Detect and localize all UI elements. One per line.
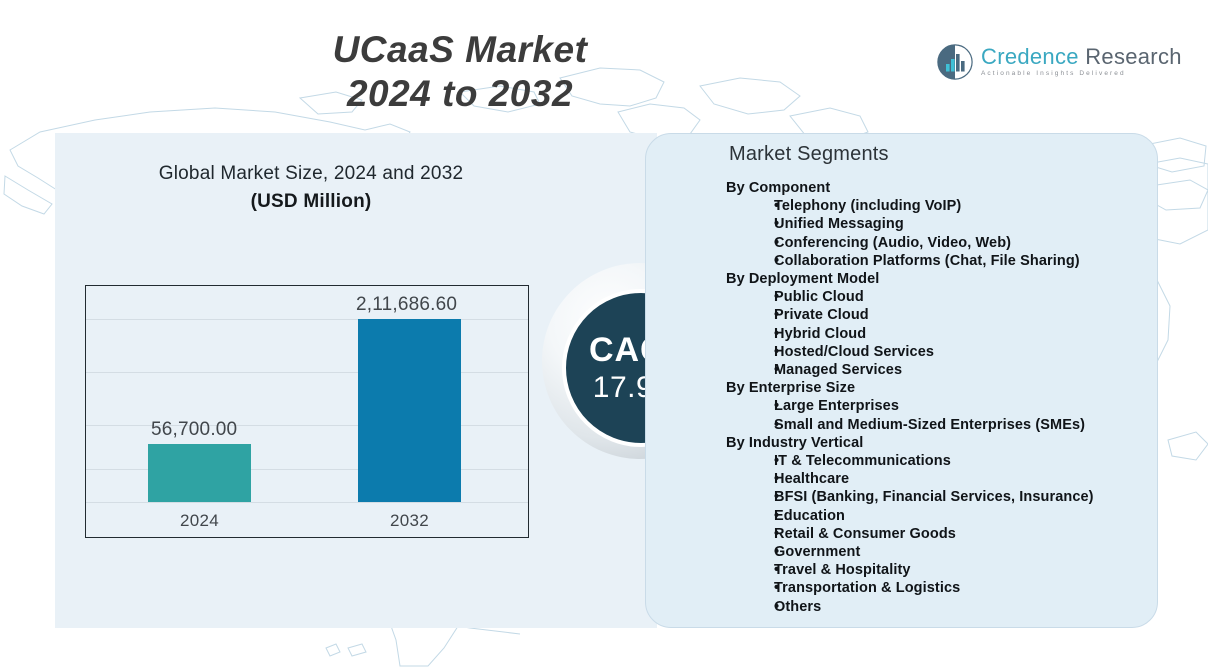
chart-title: Global Market Size, 2024 and 2032 [55,163,567,185]
logo-text-block: Credence Research Actionable Insights De… [981,46,1182,78]
segment-item-label: Hybrid Cloud [774,325,1149,343]
bullet-icon: • [726,598,774,616]
page-title-line1: UCaaS Market [333,29,588,70]
segment-item-label: Collaboration Platforms (Chat, File Shar… [774,252,1149,270]
segment-item[interactable]: •Transportation & Logistics [726,579,1149,597]
bullet-icon: • [726,488,774,506]
segment-item-label: Conferencing (Audio, Video, Web) [774,234,1149,252]
segment-item-label: IT & Telecommunications [774,452,1149,470]
segment-group: By Enterprise Size•Large Enterprises•Sma… [726,379,1149,434]
bar-chart-circle-icon [936,43,974,81]
segment-group: By Component•Telephony (including VoIP)•… [726,179,1149,270]
segment-item[interactable]: •Unified Messaging [726,215,1149,233]
segment-item-label: Unified Messaging [774,215,1149,233]
chart-gridline [86,319,528,320]
bar-label-2024: 2024 [148,511,251,531]
segment-item[interactable]: •Travel & Hospitality [726,561,1149,579]
segment-item[interactable]: •Hosted/Cloud Services [726,343,1149,361]
segment-item[interactable]: •Large Enterprises [726,397,1149,415]
segment-item-label: Healthcare [774,470,1149,488]
segment-item-label: Small and Medium-Sized Enterprises (SMEs… [774,416,1149,434]
bullet-icon: • [726,525,774,543]
segment-item-label: Travel & Hospitality [774,561,1149,579]
chart-plot-area: 56,700.00 2,11,686.60 2024 2032 [86,286,528,537]
bullet-icon: • [726,288,774,306]
bullet-icon: • [726,234,774,252]
segment-group: By Industry Vertical•IT & Telecommunicat… [726,434,1149,616]
bar-value-2024: 56,700.00 [151,419,237,441]
segment-group-heading: By Enterprise Size [726,379,1149,397]
bar-2032 [358,319,461,502]
segment-item-label: Education [774,507,1149,525]
bullet-icon: • [726,197,774,215]
segment-item[interactable]: •IT & Telecommunications [726,452,1149,470]
segment-item[interactable]: •Healthcare [726,470,1149,488]
bullet-icon: • [726,215,774,233]
segment-item[interactable]: •Conferencing (Audio, Video, Web) [726,234,1149,252]
bullet-icon: • [726,543,774,561]
segment-item[interactable]: •Collaboration Platforms (Chat, File Sha… [726,252,1149,270]
segment-item[interactable]: •Managed Services [726,361,1149,379]
segment-item-label: Public Cloud [774,288,1149,306]
segment-group-heading: By Component [726,179,1149,197]
bullet-icon: • [726,252,774,270]
bullet-icon: • [726,397,774,415]
bullet-icon: • [726,452,774,470]
segment-item[interactable]: •Public Cloud [726,288,1149,306]
bullet-icon: • [726,561,774,579]
segment-item[interactable]: •Private Cloud [726,306,1149,324]
segment-item[interactable]: •Small and Medium-Sized Enterprises (SME… [726,416,1149,434]
bullet-icon: • [726,579,774,597]
bullet-icon: • [726,416,774,434]
bullet-icon: • [726,306,774,324]
segment-item[interactable]: •BFSI (Banking, Financial Services, Insu… [726,488,1149,506]
segment-item[interactable]: •Others [726,598,1149,616]
logo-mark-svg [936,43,974,81]
bullet-icon: • [726,343,774,361]
market-segments-title: Market Segments [729,143,889,166]
chart-gridline [86,372,528,373]
logo-name: Credence Research [981,46,1182,68]
segment-item-label: Government [774,543,1149,561]
page-title-line2: 2024 to 2032 [0,72,920,116]
page-title: UCaaS Market 2024 to 2032 [0,28,920,116]
segment-item[interactable]: •Telephony (including VoIP) [726,197,1149,215]
segment-item-label: Telephony (including VoIP) [774,197,1149,215]
bar-2024 [148,444,251,502]
segment-item[interactable]: •Government [726,543,1149,561]
bar-label-2032: 2032 [358,511,461,531]
bar-chart: 56,700.00 2,11,686.60 2024 2032 [85,285,529,538]
bullet-icon: • [726,507,774,525]
segment-item-label: Hosted/Cloud Services [774,343,1149,361]
segment-item[interactable]: •Hybrid Cloud [726,325,1149,343]
chart-units-label: (USD Million) [55,191,567,213]
segment-item-label: Retail & Consumer Goods [774,525,1149,543]
credence-research-logo: Credence Research Actionable Insights De… [936,40,1142,84]
segment-item-label: Large Enterprises [774,397,1149,415]
market-segments-panel: Market Segments By Component•Telephony (… [645,133,1158,628]
infographic-page: UCaaS Market 2024 to 2032 Credence Resea… [0,0,1208,667]
bullet-icon: • [726,361,774,379]
logo-tagline: Actionable Insights Delivered [981,71,1182,78]
bullet-icon: • [726,325,774,343]
segment-group-heading: By Industry Vertical [726,434,1149,452]
segment-item-label: Others [774,598,1149,616]
segment-item[interactable]: •Retail & Consumer Goods [726,525,1149,543]
segment-item-label: Transportation & Logistics [774,579,1149,597]
bar-value-2032: 2,11,686.60 [356,294,457,316]
segment-item-label: BFSI (Banking, Financial Services, Insur… [774,488,1149,506]
logo-word-research: Research [1085,44,1182,69]
segment-group: By Deployment Model•Public Cloud•Private… [726,270,1149,379]
chart-gridline [86,502,528,503]
segment-group-heading: By Deployment Model [726,270,1149,288]
segment-item-label: Managed Services [774,361,1149,379]
segment-item[interactable]: •Education [726,507,1149,525]
bullet-icon: • [726,470,774,488]
logo-word-credence: Credence [981,44,1079,69]
market-segments-list: By Component•Telephony (including VoIP)•… [726,179,1149,616]
segment-item-label: Private Cloud [774,306,1149,324]
